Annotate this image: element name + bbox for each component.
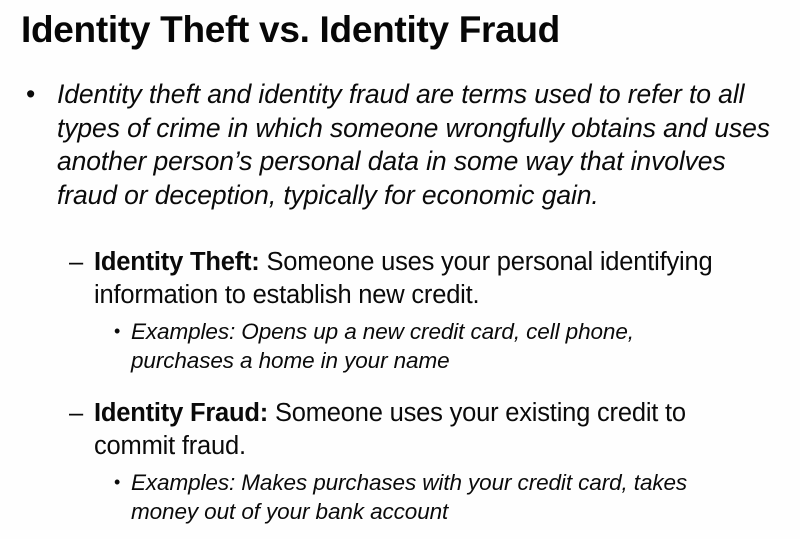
identity-theft-line-1: Identity Theft: Someone uses your person…: [94, 246, 790, 279]
bullet-item-identity-fraud: – Identity Fraud: Someone uses your exis…: [0, 397, 800, 463]
intro-line-4: fraud or deception, typically for econom…: [57, 179, 792, 213]
bullet-dot-icon: •: [114, 468, 120, 497]
identity-fraud-text-1: Someone uses your existing credit to: [268, 399, 686, 427]
page-title: Identity Theft vs. Identity Fraud: [21, 7, 781, 53]
fraud-example-line-2: money out of your bank account: [131, 497, 790, 526]
bullet-item-intro: • Identity theft and identity fraud are …: [0, 78, 800, 212]
fraud-example-line-1: Examples: Makes purchases with your cred…: [131, 468, 790, 497]
intro-line-1: Identity theft and identity fraud are te…: [57, 78, 792, 112]
intro-line-2: types of crime in which someone wrongful…: [57, 112, 792, 146]
slide-canvas: Identity Theft vs. Identity Fraud • Iden…: [0, 0, 800, 539]
identity-fraud-line-1: Identity Fraud: Someone uses your existi…: [94, 397, 790, 430]
theft-example-line-1: Examples: Opens up a new credit card, ce…: [131, 317, 790, 346]
bullet-dash-icon: –: [69, 397, 83, 430]
bullet-item-fraud-examples: • Examples: Makes purchases with your cr…: [0, 468, 800, 526]
bullet-dash-icon: –: [69, 246, 83, 279]
identity-fraud-line-2: commit fraud.: [94, 430, 790, 463]
identity-theft-text-1: Someone uses your personal identifying: [260, 248, 713, 276]
spacer: [0, 212, 800, 246]
theft-example-line-2: purchases a home in your name: [131, 346, 790, 375]
slide-body: • Identity theft and identity fraud are …: [0, 78, 800, 526]
bullet-item-identity-theft: – Identity Theft: Someone uses your pers…: [0, 246, 800, 312]
identity-theft-line-2: information to establish new credit.: [94, 279, 790, 312]
bullet-dot-icon: •: [114, 317, 120, 346]
identity-theft-label: Identity Theft:: [94, 248, 260, 276]
identity-fraud-label: Identity Fraud:: [94, 399, 268, 427]
bullet-dot-icon: •: [26, 78, 35, 112]
intro-line-3: another person’s personal data in some w…: [57, 145, 792, 179]
bullet-item-theft-examples: • Examples: Opens up a new credit card, …: [0, 317, 800, 375]
spacer: [0, 375, 800, 397]
